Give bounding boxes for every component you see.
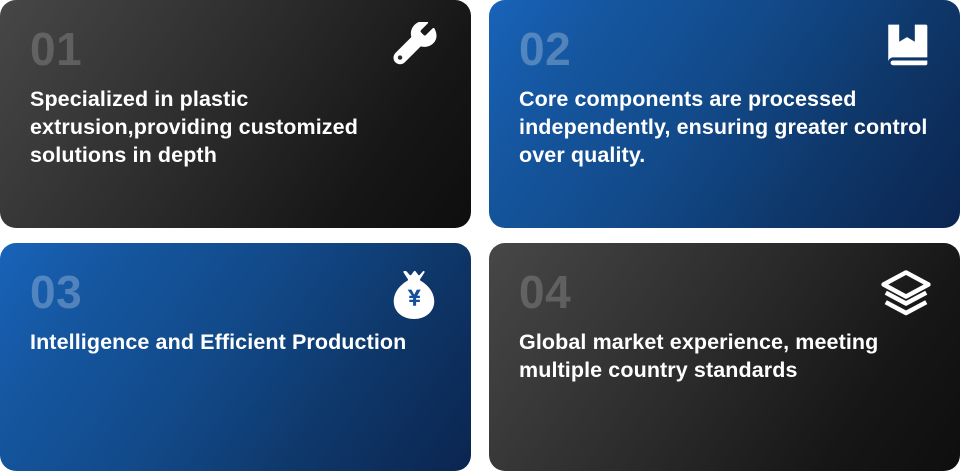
card-number: 04 xyxy=(519,269,930,315)
book-bookmark-icon xyxy=(882,22,932,74)
card-text: Specialized in plastic extrusion,providi… xyxy=(30,86,441,170)
feature-card-01[interactable]: 01 Specialized in plastic extrusion,prov… xyxy=(0,0,471,228)
card-text: Core components are processed independen… xyxy=(519,86,930,170)
card-number: 01 xyxy=(30,26,441,72)
feature-card-grid: 01 Specialized in plastic extrusion,prov… xyxy=(0,0,960,459)
card-text: Intelligence and Efficient Production xyxy=(30,329,441,357)
card-number: 03 xyxy=(30,269,441,315)
card-text: Global market experience, meeting multip… xyxy=(519,329,930,385)
feature-card-02[interactable]: 02 Core components are processed indepen… xyxy=(489,0,960,228)
layers-stack-icon xyxy=(878,269,934,319)
card-number: 02 xyxy=(519,26,930,72)
feature-card-04[interactable]: 04 Global market experience, meeting mul… xyxy=(489,243,960,471)
wrench-icon xyxy=(389,22,441,74)
money-bag-yen-icon xyxy=(387,267,441,323)
feature-card-03[interactable]: 03 Intelligence and Efficient Production xyxy=(0,243,471,471)
